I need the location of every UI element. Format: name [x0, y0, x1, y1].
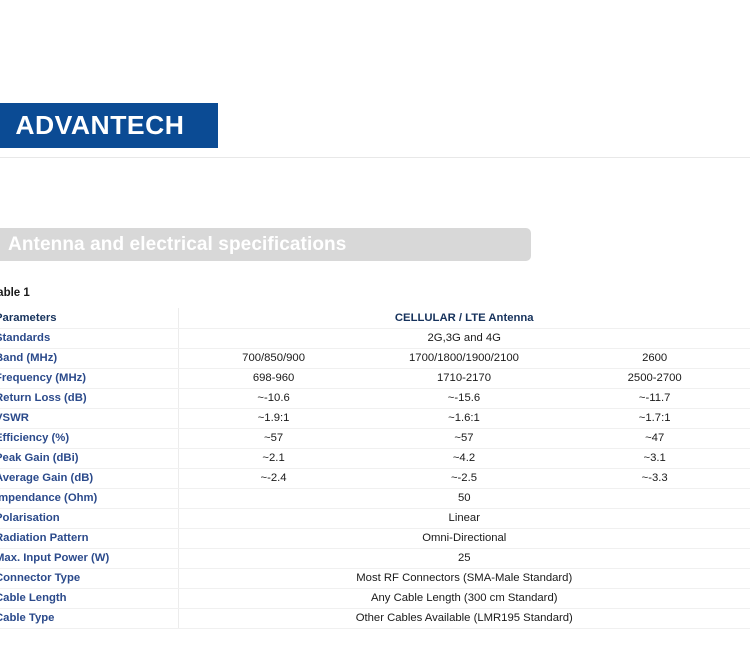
table-row-label: Standards [0, 328, 178, 348]
table-row: Frequency (MHz)698-9601710-21702500-2700 [0, 368, 750, 388]
table-row-value-c3: ~3.1 [559, 448, 750, 468]
table-row: Max. Input Power (W)25 [0, 548, 750, 568]
table-row-value-c1: ~-2.4 [178, 468, 369, 488]
table-row: Radiation PatternOmni-Directional [0, 528, 750, 548]
table-row: Efficiency (%)~57~57~47 [0, 428, 750, 448]
table-row: Cable LengthAny Cable Length (300 cm Sta… [0, 588, 750, 608]
table-caption: Table 1 [0, 287, 30, 299]
table-row-label: Cable Length [0, 588, 178, 608]
table-row-label: Band (MHz) [0, 348, 178, 368]
table-row-value-c1: ~2.1 [178, 448, 369, 468]
table-header-parameters: Parameters [0, 308, 178, 328]
table-row-label: Peak Gain (dBi) [0, 448, 178, 468]
table-row-label: Polarisation [0, 508, 178, 528]
table-row-value-c1: ~-10.6 [178, 388, 369, 408]
document-page: ADVANTECH Antenna and electrical specifi… [0, 0, 750, 650]
table-row-label: Frequency (MHz) [0, 368, 178, 388]
table-row: Band (MHz)700/850/9001700/1800/1900/2100… [0, 348, 750, 368]
table-row-value-c2: ~-15.6 [369, 388, 560, 408]
table-row: Cable TypeOther Cables Available (LMR195… [0, 608, 750, 628]
table-row: Average Gain (dB)~-2.4~-2.5~-3.3 [0, 468, 750, 488]
table-row-value-c2: ~4.2 [369, 448, 560, 468]
table-row-value-c1: 698-960 [178, 368, 369, 388]
table-row-label: Average Gain (dB) [0, 468, 178, 488]
table-row-value: Any Cable Length (300 cm Standard) [178, 588, 750, 608]
table-header-antenna: CELLULAR / LTE Antenna [178, 308, 750, 328]
table-row: VSWR~1.9:1~1.6:1~1.7:1 [0, 408, 750, 428]
table-row-value: Omni-Directional [178, 528, 750, 548]
table-row-label: Connector Type [0, 568, 178, 588]
table-row-value: Most RF Connectors (SMA-Male Standard) [178, 568, 750, 588]
table-row-label: Return Loss (dB) [0, 388, 178, 408]
table-row-value-c3: ~1.7:1 [559, 408, 750, 428]
section-banner-title: Antenna and electrical specifications [0, 234, 346, 256]
table-row-value-c3: 2500-2700 [559, 368, 750, 388]
table-row-value: Linear [178, 508, 750, 528]
table-row-value: 50 [178, 488, 750, 508]
advantech-logo: ADVANTECH [0, 103, 218, 148]
table-row-value-c2: ~57 [369, 428, 560, 448]
table-row-value-c1: ~57 [178, 428, 369, 448]
table-row-value: 2G,3G and 4G [178, 328, 750, 348]
table-row-label: Max. Input Power (W) [0, 548, 178, 568]
table-row-value-c3: ~-11.7 [559, 388, 750, 408]
header-divider [0, 157, 750, 158]
table-row: Standards2G,3G and 4G [0, 328, 750, 348]
table-row-value-c2: ~1.6:1 [369, 408, 560, 428]
table-row-value-c3: ~-3.3 [559, 468, 750, 488]
table-row-label: Efficiency (%) [0, 428, 178, 448]
table-row-value: 25 [178, 548, 750, 568]
table-row: Impendance (Ohm)50 [0, 488, 750, 508]
table-row-value-c2: ~-2.5 [369, 468, 560, 488]
table-row: PolarisationLinear [0, 508, 750, 528]
table-row-label: VSWR [0, 408, 178, 428]
advantech-logo-text: ADVANTECH [15, 110, 184, 141]
section-banner: Antenna and electrical specifications [0, 228, 531, 261]
table-row: Peak Gain (dBi)~2.1~4.2~3.1 [0, 448, 750, 468]
table-row-value-c2: 1700/1800/1900/2100 [369, 348, 560, 368]
table-row-label: Cable Type [0, 608, 178, 628]
table-row-value-c2: 1710-2170 [369, 368, 560, 388]
table-row-value: Other Cables Available (LMR195 Standard) [178, 608, 750, 628]
table-row-value-c1: 700/850/900 [178, 348, 369, 368]
table-row-label: Impendance (Ohm) [0, 488, 178, 508]
table-row-value-c1: ~1.9:1 [178, 408, 369, 428]
table-header-row: ParametersCELLULAR / LTE Antenna [0, 308, 750, 328]
specifications-table: ParametersCELLULAR / LTE AntennaStandard… [0, 308, 750, 629]
table-row-value-c3: ~47 [559, 428, 750, 448]
table-row: Connector TypeMost RF Connectors (SMA-Ma… [0, 568, 750, 588]
table-row-value-c3: 2600 [559, 348, 750, 368]
table-row: Return Loss (dB)~-10.6~-15.6~-11.7 [0, 388, 750, 408]
table-row-label: Radiation Pattern [0, 528, 178, 548]
